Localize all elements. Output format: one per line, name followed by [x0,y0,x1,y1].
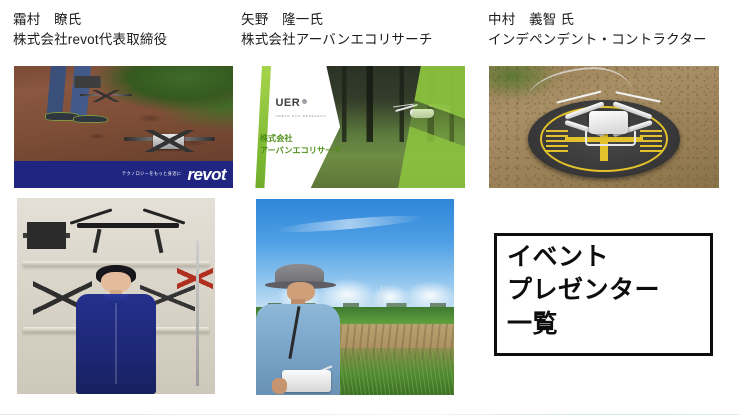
presenter-affiliation-1: 株式会社revot代表取締役 [13,30,167,50]
white-quadcopter [567,93,650,144]
drone-mid [80,87,133,107]
drone-near [124,123,216,160]
uer-logo-dot [302,99,307,104]
revot-brand-banner: テクノロジーをもっと身近に revot [14,161,233,188]
presentation-slide: 霜村 瞭氏 株式会社revot代表取締役 矢野 隆一氏 株式会社アーバンエコリサ… [0,0,740,416]
slide-bottom-rule [0,414,740,415]
uer-company-line2: アーバンエコリサーチ [260,145,342,157]
presenter-name-3: 中村 義智 氏 [488,10,707,30]
title-line-3: 一覧 [507,308,706,341]
drone-controller [282,370,331,392]
drone-landing-pad-photo [489,66,719,188]
revot-field-drones-photo: テクノロジーをもっと身近に revot [14,66,233,188]
drone-leg-right [154,229,163,254]
uer-company-name: 株式会社 アーバンエコリサーチ [260,133,342,157]
distant-tower [381,285,383,307]
hexacopter-drone [72,202,183,253]
uer-forest-drone-photo: UER URBAN ECO RESEARCH 株式会社 アーバンエコリサーチ [242,66,465,188]
drone-leg-left [92,229,101,254]
revot-tagline: テクノロジーをもっと身近に [122,171,182,177]
presenter-name-1: 霜村 瞭氏 [13,10,167,30]
pad-ticks-left [546,127,567,152]
uer-logo: UER [275,97,307,109]
title-text: イベント プレゼンター 一覧 [507,241,706,341]
drone-frame-bar [77,223,179,228]
presenter-caption-1: 霜村 瞭氏 株式会社revot代表取締役 [13,10,167,49]
field-pilot-photo [256,199,454,395]
event-presenter-list-title-box: イベント プレゼンター 一覧 [494,233,713,356]
revot-logo-text: revot [187,166,226,183]
drone-landing-gear [585,131,635,146]
shelf-drone-small [23,222,71,249]
title-line-2: プレゼンター [507,274,706,307]
presenter-name-2: 矢野 隆一氏 [241,10,433,30]
shirt-placket [115,303,117,383]
presenter-portrait [70,265,161,394]
presenter-caption-3: 中村 義智 氏 インデペンデント・コントラクター [488,10,707,49]
presenter-caption-2: 矢野 隆一氏 株式会社アーバンエコリサーチ [241,10,433,49]
uer-logo-text: UER [275,97,300,109]
uer-company-line1: 株式会社 [260,133,342,145]
hand [272,378,288,394]
uer-logo-subtitle: URBAN ECO RESEARCH [275,114,326,118]
worker-shoe-right [73,115,108,124]
workshop-portrait-photo [17,198,215,394]
presenter-affiliation-3: インデペンデント・コントラクター [488,30,707,50]
title-line-1: イベント [507,241,706,274]
drone-body [153,134,184,149]
presenter-affiliation-2: 株式会社アーバンエコリサーチ [241,30,433,50]
drone-pilot [256,264,343,395]
metal-pole [196,241,199,386]
